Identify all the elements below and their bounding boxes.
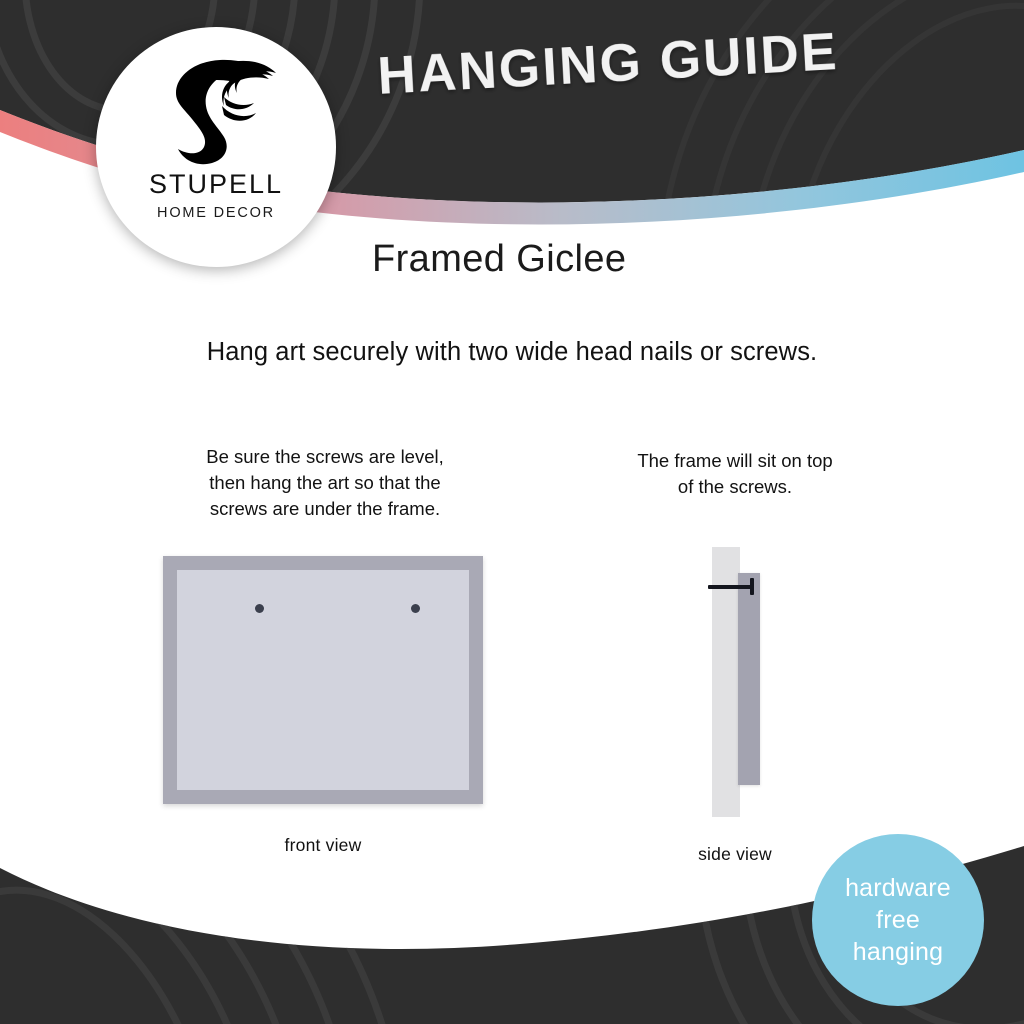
brand-logo-badge: STUPELL HOME DECOR (96, 27, 336, 267)
front-view-instructions: Be sure the screws are level, then hang … (140, 444, 510, 522)
side-view-frame (738, 573, 760, 785)
side-view-instructions: The frame will sit on top of the screws. (560, 448, 910, 500)
badge-line: hanging (853, 936, 943, 968)
front-view-instruction-line: Be sure the screws are level, (140, 444, 510, 470)
product-type-label: Framed Giclee (372, 238, 626, 281)
side-view-diagram (700, 540, 820, 830)
hardware-free-hanging-badge: hardware free hanging (812, 834, 984, 1006)
front-view-mat (177, 570, 469, 790)
brand-tagline: HOME DECOR (157, 205, 275, 221)
front-view-diagram (163, 556, 483, 804)
side-view-column: The frame will sit on top of the screws. (560, 448, 910, 500)
screw-dot-right (411, 604, 420, 613)
badge-line: hardware (845, 872, 951, 904)
nail-head-icon (750, 578, 754, 595)
front-view-instruction-line: screws are under the frame. (140, 496, 510, 522)
badge-line: free (876, 904, 920, 936)
brand-name: STUPELL (149, 171, 283, 198)
front-view-instruction-line: then hang the art so that the (140, 470, 510, 496)
stupell-swoosh-logo-icon (152, 49, 280, 169)
side-view-instruction-line: of the screws. (560, 474, 910, 500)
front-view-column: Be sure the screws are level, then hang … (140, 444, 510, 522)
hanging-guide-page: STUPELL HOME DECOR HANGING GUIDE Framed … (0, 0, 1024, 1024)
main-instruction-text: Hang art securely with two wide head nai… (0, 338, 1024, 367)
screw-dot-left (255, 604, 264, 613)
side-view-instruction-line: The frame will sit on top (560, 448, 910, 474)
nail-shaft-icon (708, 585, 754, 589)
